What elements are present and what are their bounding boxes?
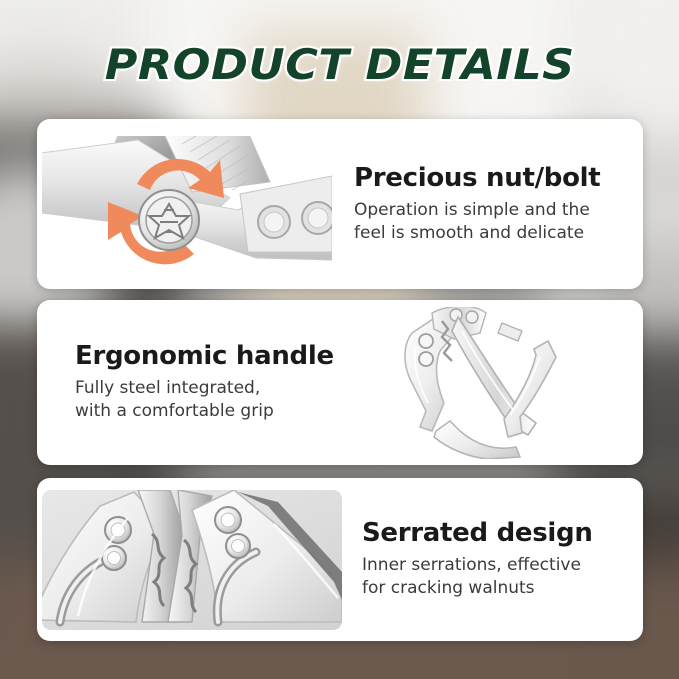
card-1-body: Operation is simple and the feel is smoo… bbox=[354, 199, 637, 245]
page-title: PRODUCT DETAILS bbox=[104, 40, 574, 89]
full-nutcracker-illustration bbox=[370, 307, 625, 459]
card-3-text: Serrated design Inner serrations, effect… bbox=[342, 519, 643, 600]
card-3-body: Inner serrations, effective for cracking… bbox=[362, 554, 637, 600]
card-1-heading: Precious nut/bolt bbox=[354, 164, 637, 193]
card-2-heading: Ergonomic handle bbox=[75, 342, 370, 371]
jaw-rivet-2 bbox=[466, 311, 478, 323]
detail-card-serrated-design: Serrated design Inner serrations, effect… bbox=[37, 478, 643, 641]
card-1-image bbox=[42, 136, 332, 272]
detail-card-precious-nut-bolt: Precious nut/bolt Operation is simple an… bbox=[37, 119, 643, 289]
card-2-text: Ergonomic handle Fully steel integrated,… bbox=[37, 342, 370, 423]
card-2-body: Fully steel integrated, with a comfortab… bbox=[75, 377, 370, 423]
page-title-container: PRODUCT DETAILS bbox=[0, 40, 679, 89]
card-2-image bbox=[370, 307, 625, 459]
detail-card-ergonomic-handle: Ergonomic handle Fully steel integrated,… bbox=[37, 300, 643, 465]
nutcracker-pivot-illustration bbox=[42, 136, 332, 272]
card-3-image bbox=[42, 490, 342, 630]
serrated-jaws-illustration bbox=[42, 490, 342, 630]
upper-tip bbox=[498, 323, 522, 341]
card-3-heading: Serrated design bbox=[362, 519, 637, 548]
rivet-1 bbox=[419, 334, 433, 348]
card-1-text: Precious nut/bolt Operation is simple an… bbox=[332, 164, 643, 245]
rivet-2 bbox=[419, 352, 433, 366]
product-details-infographic: PRODUCT DETAILS bbox=[0, 0, 679, 679]
